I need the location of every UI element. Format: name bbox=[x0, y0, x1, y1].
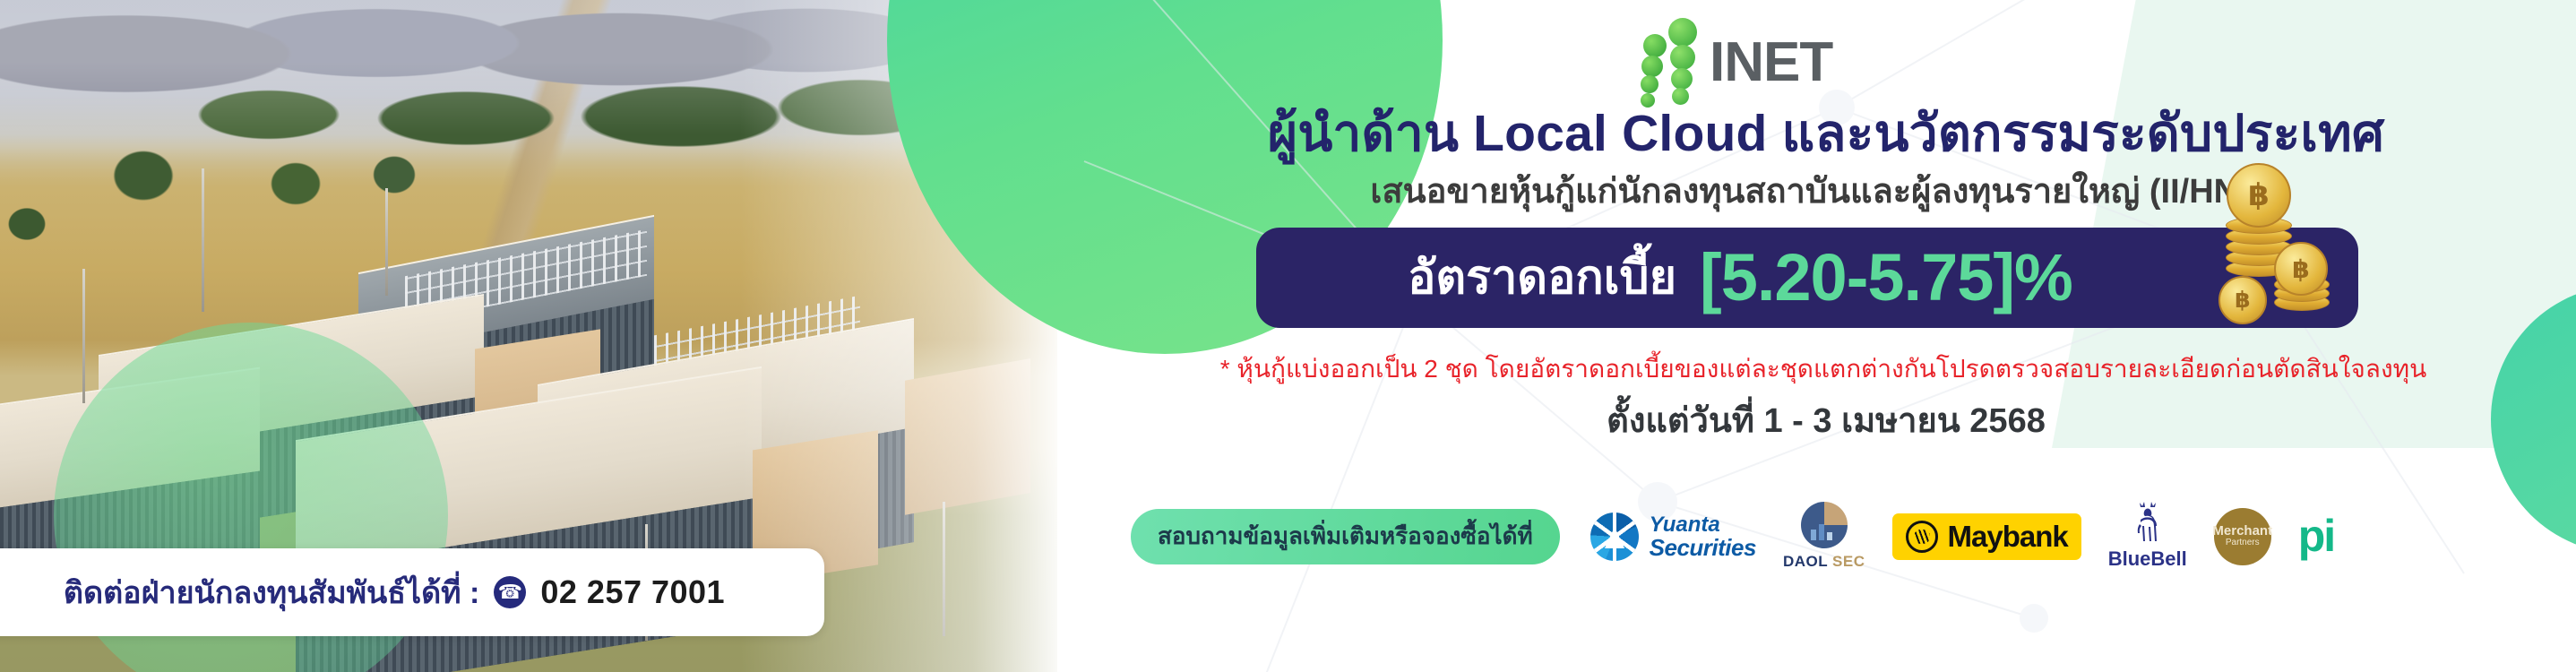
footnote-disclaimer: * หุ้นกู้แบ่งออกเป็น 2 ชุด โดยอัตราดอกเบ… bbox=[1066, 349, 2576, 389]
interest-rate-value: [5.20-5.75]% bbox=[1700, 245, 2072, 311]
enquiry-subscribe-button[interactable]: สอบถามข้อมูลเพิ่มเติมหรือจองซื้อได้ที่ bbox=[1131, 509, 1560, 564]
contact-phone-number[interactable]: 02 257 7001 bbox=[540, 573, 725, 611]
inet-logo-text: INET bbox=[1710, 37, 1832, 90]
yuanta-name-line2: Securities bbox=[1650, 536, 1756, 559]
content-column: INET ผู้นำด้าน Local Cloud และนวัตกรรมระ… bbox=[1057, 0, 2576, 672]
inet-debenture-banner: INET ผู้นำด้าน Local Cloud และนวัตกรรมระ… bbox=[0, 0, 2576, 672]
broker-logo-yuanta[interactable]: Yuanta Securities bbox=[1590, 513, 1756, 561]
daol-name-bold: DAOL bbox=[1783, 553, 1828, 570]
inet-dots-logo-icon bbox=[1631, 16, 1701, 90]
yuanta-name-line1: Yuanta bbox=[1650, 513, 1720, 537]
broker-logo-merchant-partners[interactable]: Merchant Partners bbox=[2214, 508, 2271, 565]
merchant-name-line1: Merchant bbox=[2212, 524, 2272, 538]
investor-relations-contact-card: ติดต่อฝ่ายนักลงทุนสัมพันธ์ได้ที่ : 02 25… bbox=[0, 548, 824, 636]
daol-pie-chart-icon bbox=[1801, 502, 1848, 548]
yuanta-star-icon bbox=[1590, 513, 1639, 561]
bluebell-wordmark: BlueBell bbox=[2108, 547, 2187, 571]
daol-name-light: SEC bbox=[1832, 553, 1865, 570]
broker-logo-bluebell[interactable]: BlueBell bbox=[2108, 502, 2187, 571]
daol-wordmark: DAOL SEC bbox=[1783, 553, 1865, 571]
broker-logo-pi[interactable]: pi bbox=[2298, 516, 2334, 556]
page-title: ผู้นำด้าน Local Cloud และนวัตกรรมระดับปร… bbox=[1091, 93, 2561, 174]
yuanta-wordmark: Yuanta Securities bbox=[1650, 514, 1756, 559]
interest-rate-box: อัตราดอกเบี้ย [5.20-5.75]% ฿ ฿ bbox=[1256, 228, 2358, 328]
merchant-name-line2: Partners bbox=[2226, 538, 2260, 548]
inet-logo: INET bbox=[1631, 16, 1832, 90]
contact-label: ติดต่อฝ่ายนักลงทุนสัมพันธ์ได้ที่ : bbox=[64, 568, 479, 616]
offering-dates: ตั้งแต่วันที่ 1 - 3 เมษายน 2568 bbox=[1091, 392, 2561, 447]
gold-coin-stack-icon: ฿ ฿ ฿ bbox=[2206, 194, 2349, 330]
broker-logo-daol[interactable]: DAOL SEC bbox=[1783, 502, 1865, 571]
merchant-partners-circle-icon: Merchant Partners bbox=[2214, 508, 2271, 565]
pi-wordmark-icon: pi bbox=[2298, 516, 2334, 556]
maybank-wordmark: Maybank bbox=[1948, 520, 2068, 554]
bluebell-deer-icon bbox=[2128, 502, 2167, 545]
interest-rate-label: อัตราดอกเบี้ย bbox=[1408, 254, 1676, 301]
broker-logo-maybank[interactable]: Maybank bbox=[1892, 513, 2081, 560]
broker-logo-list: Yuanta Securities DAOL SEC Maybank bbox=[1590, 502, 2335, 571]
maybank-tiger-icon bbox=[1906, 521, 1938, 553]
phone-icon bbox=[494, 576, 526, 608]
cta-row: สอบถามข้อมูลเพิ่มเติมหรือจองซื้อได้ที่ Y… bbox=[1131, 502, 2334, 571]
